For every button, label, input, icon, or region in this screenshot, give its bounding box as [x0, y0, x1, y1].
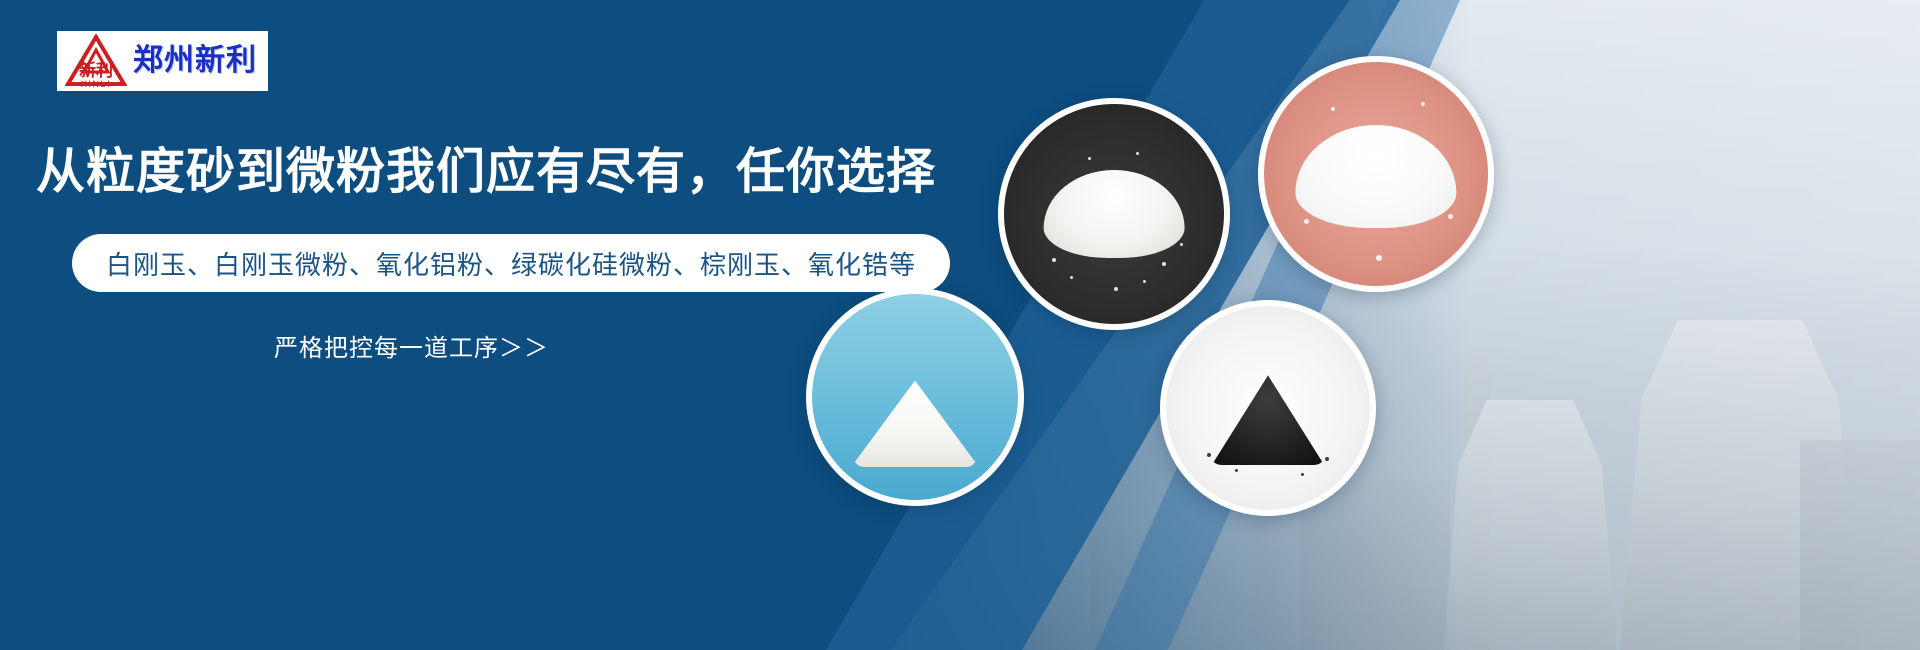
white-granule-pile [1044, 170, 1185, 258]
white-powder-pile [1295, 125, 1456, 228]
company-logo[interactable]: 新利 XINLI 郑州新利 [57, 31, 268, 91]
product-photo-alumina-cone [806, 288, 1024, 506]
black-granule-pile [1207, 375, 1329, 465]
product-list-text: 白刚玉、白刚玉微粉、氧化铝粉、绿碳化硅微粉、棕刚玉、氧化锆等 [106, 245, 916, 282]
svg-text:新利: 新利 [79, 60, 113, 80]
xinli-triangle-icon: 新利 XINLI [65, 34, 127, 88]
process-quality-link[interactable]: 严格把控每一道工序＞＞ [274, 328, 549, 363]
svg-text:XINLI: XINLI [81, 79, 112, 88]
company-name-text: 郑州新利 [133, 46, 257, 76]
product-list-pill: 白刚玉、白刚玉微粉、氧化铝粉、绿碳化硅微粉、棕刚玉、氧化锆等 [72, 234, 950, 292]
product-photo-white-powder [1258, 56, 1494, 292]
product-photo-white-granules [998, 98, 1230, 330]
alumina-cone-pile [851, 381, 979, 468]
product-photo-black-granules [1160, 300, 1376, 516]
promo-banner: 新利 XINLI 郑州新利 从粒度砂到微粉我们应有尽有，任你选择 白刚玉、白刚玉… [0, 0, 1920, 650]
headline: 从粒度砂到微粉我们应有尽有，任你选择 [36, 146, 936, 200]
